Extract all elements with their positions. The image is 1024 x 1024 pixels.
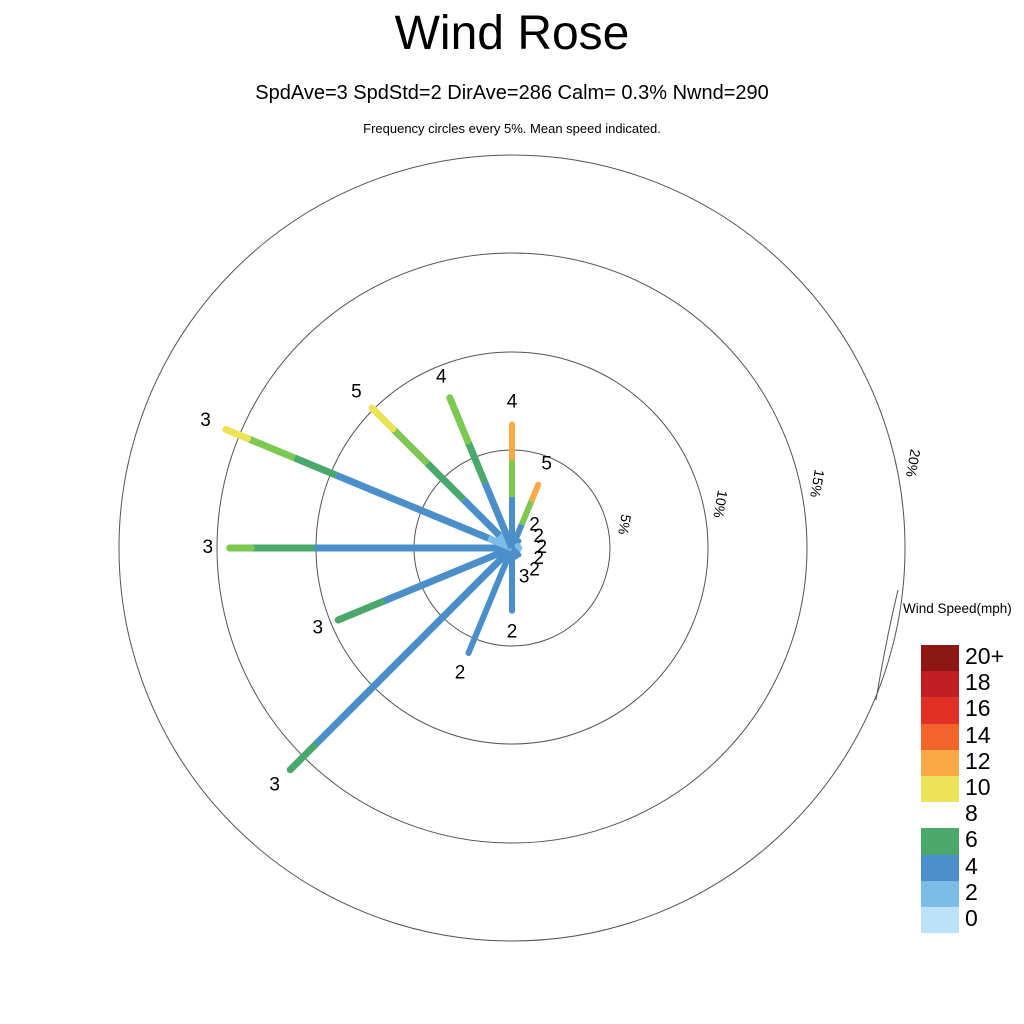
ring-label-5: 5% bbox=[615, 513, 634, 536]
legend-row: 2 bbox=[921, 881, 959, 907]
petal-segment bbox=[248, 438, 295, 458]
legend-swatch bbox=[921, 750, 959, 776]
legend-swatch bbox=[921, 697, 959, 723]
legend-row: 6 bbox=[921, 828, 959, 854]
petal-segment bbox=[290, 746, 314, 770]
legend-swatch bbox=[921, 855, 959, 881]
mean-speed-label: 3 bbox=[313, 617, 324, 638]
legend-swatch bbox=[921, 802, 959, 828]
legend-label: 12 bbox=[965, 748, 1023, 774]
svg-text:20%: 20% bbox=[903, 448, 924, 478]
mean-speed-label: 3 bbox=[202, 537, 213, 558]
wind-petals bbox=[226, 398, 538, 770]
wind-rose-page: Wind Rose SpdAve=3 SpdStd=2 DirAve=286 C… bbox=[0, 0, 1024, 1024]
legend-label: 20+ bbox=[965, 643, 1023, 669]
legend-swatch bbox=[921, 776, 959, 802]
legend-swatch bbox=[921, 645, 959, 671]
petal-segment bbox=[295, 458, 337, 475]
ring-label-15: 15% bbox=[807, 468, 828, 498]
mean-speed-label: 3 bbox=[200, 410, 211, 431]
legend-row: 14 bbox=[921, 724, 959, 750]
legend-leader-line bbox=[876, 590, 898, 700]
mean-speed-label: 2 bbox=[529, 560, 540, 581]
legend-label: 2 bbox=[965, 879, 1023, 905]
legend-swatch bbox=[921, 671, 959, 697]
legend-row: 4 bbox=[921, 855, 959, 881]
legend-label: 8 bbox=[965, 800, 1023, 826]
petal-segment bbox=[468, 441, 485, 483]
petal-segment bbox=[450, 398, 468, 441]
legend-row: 18 bbox=[921, 671, 959, 697]
legend-label: 0 bbox=[965, 905, 1023, 931]
petal-segment bbox=[532, 485, 538, 499]
legend-swatch bbox=[921, 828, 959, 854]
mean-speed-label: 5 bbox=[541, 453, 552, 474]
petal-segment bbox=[314, 548, 512, 746]
ring-label-10: 10% bbox=[710, 489, 731, 519]
petal-segment bbox=[226, 429, 248, 438]
petal-segment bbox=[372, 408, 393, 429]
legend-row: 10 bbox=[921, 776, 959, 802]
legend-row: 20+ bbox=[921, 645, 959, 671]
legend-row: 0 bbox=[921, 907, 959, 933]
leader-line bbox=[876, 590, 898, 700]
petal-nw bbox=[372, 408, 512, 548]
svg-text:10%: 10% bbox=[710, 489, 731, 519]
wind-speed-legend: 20+181614121086420 bbox=[921, 645, 959, 933]
legend-title: Wind Speed(mph) bbox=[903, 601, 1012, 616]
ring-label-20: 20% bbox=[903, 448, 924, 478]
ring-labels: 5%10%15%20% bbox=[615, 448, 924, 536]
petal-segment bbox=[336, 475, 488, 538]
petal-segment bbox=[393, 429, 428, 464]
mean-speed-label: 4 bbox=[507, 392, 518, 413]
legend-swatch bbox=[921, 907, 959, 933]
legend-row: 16 bbox=[921, 697, 959, 723]
legend-label: 18 bbox=[965, 669, 1023, 695]
legend-row: 8 bbox=[921, 802, 959, 828]
petal-segment bbox=[338, 602, 381, 620]
legend-label: 10 bbox=[965, 774, 1023, 800]
petal-sw bbox=[290, 548, 512, 770]
legend-label: 6 bbox=[965, 826, 1023, 852]
mean-speed-label: 2 bbox=[507, 622, 518, 643]
legend-swatch bbox=[921, 724, 959, 750]
petal-segment bbox=[427, 463, 463, 499]
legend-swatch bbox=[921, 881, 959, 907]
legend-label: 16 bbox=[965, 695, 1023, 721]
legend-label: 14 bbox=[965, 722, 1023, 748]
legend-row: 12 bbox=[921, 750, 959, 776]
legend-label: 4 bbox=[965, 853, 1023, 879]
svg-text:5%: 5% bbox=[615, 513, 634, 536]
mean-speed-label: 5 bbox=[351, 381, 362, 402]
mean-speed-label: 2 bbox=[455, 662, 466, 683]
wind-rose-plot: 5%10%15%20% 4522222322333354 bbox=[0, 0, 1024, 1024]
svg-text:15%: 15% bbox=[807, 468, 828, 498]
mean-speed-label: 3 bbox=[519, 566, 530, 587]
mean-speed-label: 4 bbox=[436, 366, 447, 387]
mean-speed-label: 3 bbox=[269, 774, 280, 795]
